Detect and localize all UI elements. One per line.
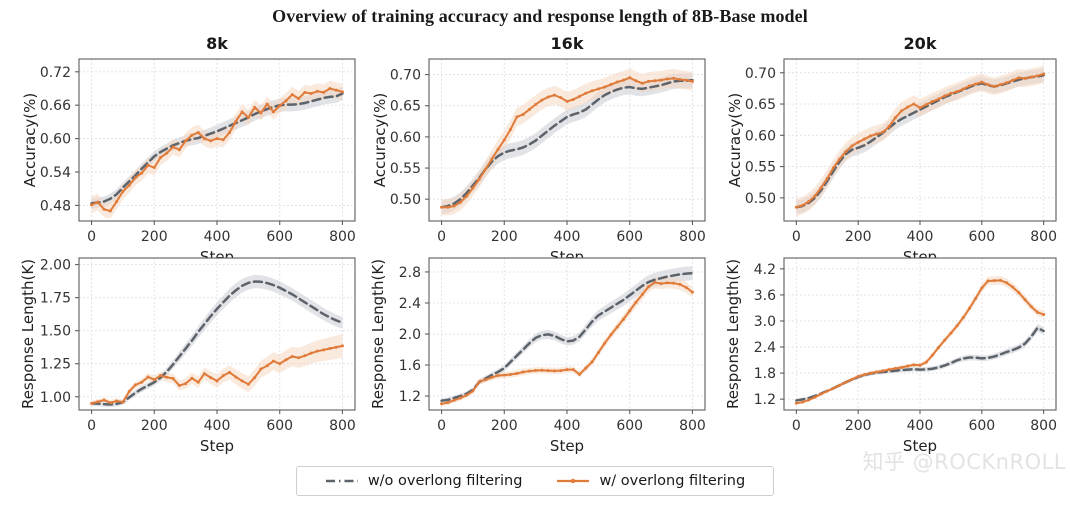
x-axis-label: Step xyxy=(200,437,234,455)
panel-title: 20k xyxy=(904,34,937,53)
y-tick-label: 0.55 xyxy=(390,161,421,177)
series-marker xyxy=(999,279,1002,282)
series-marker xyxy=(912,363,915,366)
legend-solid-line-icon xyxy=(556,475,590,487)
series-marker xyxy=(622,318,625,321)
x-tick-label: 800 xyxy=(1030,229,1057,245)
series-marker xyxy=(178,148,181,151)
series-marker xyxy=(241,379,244,382)
y-tick-label: 2.4 xyxy=(399,296,421,312)
series-marker xyxy=(603,86,606,89)
series-marker xyxy=(832,387,835,390)
series-marker xyxy=(660,282,663,285)
series-marker xyxy=(949,92,952,95)
legend-item-filtered[interactable]: w/ overlong filtering xyxy=(556,473,745,489)
series-marker xyxy=(291,355,294,358)
subplot-len-20k: 1.21.82.43.03.64.20200400600800StepRespo… xyxy=(724,258,1057,455)
series-marker xyxy=(666,281,669,284)
series-marker xyxy=(197,131,200,134)
series-marker xyxy=(266,364,269,367)
x-tick-label: 400 xyxy=(907,418,934,434)
series-marker xyxy=(597,351,600,354)
series-marker xyxy=(584,92,587,95)
subplot-acc-20k: 0.500.550.600.650.700200400600800StepAcc… xyxy=(726,34,1057,266)
series-marker xyxy=(90,203,93,206)
y-tick-label: 4.2 xyxy=(754,262,776,278)
series-marker xyxy=(341,344,344,347)
series-marker xyxy=(813,396,816,399)
subplot-acc-16k: 0.500.550.600.650.700200400600800StepAcc… xyxy=(371,34,706,266)
series-marker xyxy=(547,369,550,372)
series-marker xyxy=(881,369,884,372)
series-marker xyxy=(259,368,262,371)
series-marker xyxy=(1036,311,1039,314)
series-marker xyxy=(993,279,996,282)
series-marker xyxy=(578,95,581,98)
series-marker xyxy=(962,316,965,319)
series-marker xyxy=(863,373,866,376)
series-marker xyxy=(559,369,562,372)
series-marker xyxy=(272,360,275,363)
series-marker xyxy=(172,377,175,380)
series-marker xyxy=(140,381,143,384)
legend-label-filtered: w/ overlong filtering xyxy=(599,473,745,489)
y-axis-label: Accuracy(%) xyxy=(371,93,389,187)
series-marker xyxy=(459,396,462,399)
x-tick-label: 800 xyxy=(679,229,706,245)
series-marker xyxy=(197,381,200,384)
series-marker xyxy=(572,368,575,371)
legend-item-baseline[interactable]: w/o overlong filtering xyxy=(325,473,523,489)
series-marker xyxy=(272,110,275,113)
series-marker xyxy=(844,150,847,153)
series-marker xyxy=(503,139,506,142)
series-marker xyxy=(572,98,575,101)
x-tick-label: 600 xyxy=(266,418,293,434)
y-tick-label: 1.25 xyxy=(40,357,71,373)
series-marker xyxy=(807,399,810,402)
series-marker xyxy=(259,112,262,115)
series-marker xyxy=(566,368,569,371)
series-marker xyxy=(497,148,500,151)
series-marker xyxy=(203,372,206,375)
y-tick-label: 0.70 xyxy=(390,68,421,84)
series-marker xyxy=(159,156,162,159)
series-marker xyxy=(134,383,137,386)
y-tick-label: 0.66 xyxy=(40,98,71,114)
series-marker xyxy=(522,371,525,374)
x-tick-label: 600 xyxy=(968,229,995,245)
series-marker xyxy=(121,401,124,404)
series-marker xyxy=(103,399,106,402)
y-tick-label: 1.50 xyxy=(40,324,71,340)
x-tick-label: 600 xyxy=(266,229,293,245)
y-tick-label: 1.00 xyxy=(40,390,71,406)
series-marker xyxy=(128,184,131,187)
series-marker xyxy=(838,158,841,161)
series-marker xyxy=(685,286,688,289)
series-marker xyxy=(316,90,319,93)
series-marker xyxy=(584,367,587,370)
series-marker xyxy=(832,166,835,169)
series-marker xyxy=(691,291,694,294)
series-marker xyxy=(956,90,959,93)
series-marker xyxy=(190,134,193,137)
panel-title: 16k xyxy=(551,34,584,53)
series-marker xyxy=(566,100,569,103)
series-marker xyxy=(943,339,946,342)
series-marker xyxy=(515,372,518,375)
x-tick-label: 0 xyxy=(87,418,96,434)
subplot-len-16k: 1.21.62.02.42.80200400600800StepResponse… xyxy=(369,258,706,455)
series-marker xyxy=(335,346,338,349)
series-marker xyxy=(672,282,675,285)
series-marker xyxy=(184,139,187,142)
series-marker xyxy=(109,401,112,404)
series-marker xyxy=(109,209,112,212)
series-marker xyxy=(691,80,694,83)
x-tick-label: 0 xyxy=(792,229,801,245)
y-tick-label: 0.60 xyxy=(745,128,776,144)
series-marker xyxy=(278,104,281,107)
legend-dashed-line-icon xyxy=(325,475,359,487)
series-marker xyxy=(559,96,562,99)
series-marker xyxy=(547,96,550,99)
series-marker xyxy=(635,301,638,304)
series-marker xyxy=(465,394,468,397)
series-marker xyxy=(165,376,168,379)
series-marker xyxy=(534,369,537,372)
x-axis-label: Step xyxy=(550,437,584,455)
series-marker xyxy=(1005,81,1008,84)
series-marker xyxy=(103,208,106,211)
y-tick-label: 0.48 xyxy=(40,198,71,214)
series-marker xyxy=(553,94,556,97)
subplot-len-8k: 1.001.251.501.752.000200400600800StepRes… xyxy=(19,258,356,455)
series-marker xyxy=(341,90,344,93)
series-marker xyxy=(222,138,225,141)
series-marker xyxy=(881,131,884,134)
series-marker xyxy=(121,190,124,193)
series-marker xyxy=(968,307,971,310)
series-marker xyxy=(925,361,928,364)
series-marker xyxy=(203,137,206,140)
y-tick-label: 1.2 xyxy=(754,392,776,408)
series-marker xyxy=(591,360,594,363)
series-marker xyxy=(266,103,269,106)
y-tick-label: 0.72 xyxy=(40,65,71,81)
series-marker xyxy=(628,309,631,312)
series-marker xyxy=(440,206,443,209)
series-marker xyxy=(128,390,131,393)
series-marker xyxy=(216,137,219,140)
series-marker xyxy=(999,83,1002,86)
series-marker xyxy=(653,281,656,284)
x-tick-label: 400 xyxy=(204,418,231,434)
y-tick-label: 1.8 xyxy=(754,366,776,382)
x-tick-label: 800 xyxy=(329,418,356,434)
series-marker xyxy=(609,333,612,336)
series-marker xyxy=(1024,298,1027,301)
x-axis-label: Step xyxy=(903,437,937,455)
series-marker xyxy=(980,286,983,289)
series-marker xyxy=(178,384,181,387)
series-marker xyxy=(1017,76,1020,79)
series-marker xyxy=(222,374,225,377)
series-marker xyxy=(672,77,675,80)
series-marker xyxy=(446,206,449,209)
series-marker xyxy=(534,103,537,106)
series-marker xyxy=(234,120,237,123)
series-marker xyxy=(900,366,903,369)
series-marker xyxy=(888,125,891,128)
series-marker xyxy=(857,375,860,378)
series-marker xyxy=(285,358,288,361)
series-marker xyxy=(1024,77,1027,80)
series-marker xyxy=(153,378,156,381)
series-marker xyxy=(616,81,619,84)
y-tick-label: 0.60 xyxy=(40,132,71,148)
x-tick-label: 800 xyxy=(329,229,356,245)
legend-label-baseline: w/o overlong filtering xyxy=(368,473,523,489)
series-marker xyxy=(209,376,212,379)
series-marker xyxy=(147,375,150,378)
series-marker xyxy=(522,113,525,116)
series-marker xyxy=(641,82,644,85)
series-marker xyxy=(90,402,93,405)
series-marker xyxy=(635,79,638,82)
y-tick-label: 0.50 xyxy=(745,191,776,207)
y-tick-label: 2.8 xyxy=(399,265,421,281)
series-marker xyxy=(660,79,663,82)
y-tick-label: 0.55 xyxy=(745,160,776,176)
x-tick-label: 200 xyxy=(141,418,168,434)
series-marker xyxy=(297,97,300,100)
series-marker xyxy=(838,384,841,387)
series-marker xyxy=(209,139,212,142)
series-marker xyxy=(647,80,650,83)
series-marker xyxy=(165,152,168,155)
y-tick-label: 2.4 xyxy=(754,340,776,356)
series-marker xyxy=(1030,305,1033,308)
series-marker xyxy=(820,393,823,396)
series-marker xyxy=(603,342,606,345)
series-marker xyxy=(1042,313,1045,316)
series-marker xyxy=(931,100,934,103)
y-tick-label: 0.60 xyxy=(390,130,421,146)
series-marker xyxy=(484,168,487,171)
series-marker xyxy=(956,324,959,327)
series-marker xyxy=(801,204,804,207)
series-marker xyxy=(1030,76,1033,79)
series-marker xyxy=(540,369,543,372)
series-marker xyxy=(190,377,193,380)
y-axis-label: Accuracy(%) xyxy=(726,93,744,187)
y-tick-label: 0.50 xyxy=(390,192,421,208)
x-tick-label: 200 xyxy=(491,418,518,434)
series-marker xyxy=(490,158,493,161)
series-marker xyxy=(987,280,990,283)
series-marker xyxy=(310,92,313,95)
series-marker xyxy=(497,374,500,377)
series-marker xyxy=(241,110,244,113)
series-marker xyxy=(597,87,600,90)
series-marker xyxy=(172,145,175,148)
y-tick-label: 0.65 xyxy=(745,97,776,113)
series-marker xyxy=(316,350,319,353)
x-tick-label: 400 xyxy=(907,229,934,245)
series-marker xyxy=(647,285,650,288)
series-marker xyxy=(247,383,250,386)
series-marker xyxy=(820,186,823,189)
series-marker xyxy=(609,83,612,86)
series-marker xyxy=(228,131,231,134)
series-marker xyxy=(322,348,325,351)
series-marker xyxy=(216,379,219,382)
series-marker xyxy=(851,378,854,381)
series-marker xyxy=(857,141,860,144)
x-tick-label: 0 xyxy=(437,229,446,245)
series-marker xyxy=(616,326,619,329)
series-marker xyxy=(826,177,829,180)
series-marker xyxy=(509,128,512,131)
series-marker xyxy=(478,380,481,383)
series-marker xyxy=(159,374,162,377)
x-tick-label: 600 xyxy=(616,229,643,245)
series-marker xyxy=(335,89,338,92)
y-tick-label: 0.65 xyxy=(390,99,421,115)
series-marker xyxy=(490,376,493,379)
series-marker xyxy=(894,367,897,370)
series-marker xyxy=(471,390,474,393)
series-marker xyxy=(591,89,594,92)
y-tick-label: 3.0 xyxy=(754,314,776,330)
y-tick-label: 0.70 xyxy=(745,66,776,82)
figure-title: Overview of training accuracy and respon… xyxy=(0,6,1080,27)
series-marker xyxy=(678,283,681,286)
series-marker xyxy=(937,98,940,101)
series-marker xyxy=(931,354,934,357)
series-marker xyxy=(795,206,798,209)
x-tick-label: 0 xyxy=(437,418,446,434)
series-marker xyxy=(987,83,990,86)
series-marker xyxy=(453,205,456,208)
series-marker xyxy=(153,166,156,169)
x-tick-label: 400 xyxy=(554,229,581,245)
series-marker xyxy=(869,372,872,375)
series-marker xyxy=(115,200,118,203)
series-marker xyxy=(685,79,688,82)
series-marker xyxy=(228,371,231,374)
series-marker xyxy=(303,91,306,94)
y-axis-label: Response Length(K) xyxy=(724,259,742,409)
series-marker xyxy=(453,399,456,402)
series-marker xyxy=(446,401,449,404)
series-marker xyxy=(980,81,983,84)
series-marker xyxy=(943,94,946,97)
series-marker xyxy=(484,378,487,381)
x-tick-label: 0 xyxy=(792,418,801,434)
y-tick-label: 0.54 xyxy=(40,165,71,181)
series-marker xyxy=(906,106,909,109)
y-axis-label: Response Length(K) xyxy=(369,259,387,409)
series-marker xyxy=(278,362,281,365)
x-tick-label: 0 xyxy=(87,229,96,245)
series-marker xyxy=(310,352,313,355)
figure-root: Overview of training accuracy and respon… xyxy=(0,0,1080,508)
series-marker xyxy=(900,109,903,112)
series-marker xyxy=(478,178,481,181)
x-tick-label: 200 xyxy=(141,229,168,245)
series-marker xyxy=(919,106,922,109)
series-marker xyxy=(440,402,443,405)
x-tick-label: 200 xyxy=(845,229,872,245)
series-marker xyxy=(968,84,971,87)
series-marker xyxy=(813,194,816,197)
series-marker xyxy=(147,164,150,167)
x-tick-label: 400 xyxy=(554,418,581,434)
series-marker xyxy=(628,76,631,79)
y-axis-label: Response Length(K) xyxy=(19,259,37,409)
series-marker xyxy=(962,88,965,91)
y-tick-label: 2.00 xyxy=(40,258,71,274)
subplot-acc-8k: 0.480.540.600.660.720200400600800StepAcc… xyxy=(21,34,356,266)
series-marker xyxy=(134,176,137,179)
x-tick-label: 400 xyxy=(204,229,231,245)
series-marker xyxy=(253,376,256,379)
series-marker xyxy=(1017,291,1020,294)
series-marker xyxy=(115,400,118,403)
series-marker xyxy=(553,369,556,372)
panel-title: 8k xyxy=(206,34,228,53)
series-marker xyxy=(291,93,294,96)
series-marker xyxy=(1005,281,1008,284)
y-tick-label: 1.2 xyxy=(399,389,421,405)
series-marker xyxy=(801,401,804,404)
series-marker xyxy=(795,402,798,405)
series-marker xyxy=(140,172,143,175)
series-marker xyxy=(919,364,922,367)
series-marker xyxy=(528,370,531,373)
series-marker xyxy=(937,346,940,349)
subplot-grid: 0.480.540.600.660.720200400600800StepAcc… xyxy=(0,28,1080,488)
series-marker xyxy=(1011,286,1014,289)
series-marker xyxy=(869,134,872,137)
y-tick-label: 2.0 xyxy=(399,327,421,343)
series-marker xyxy=(826,390,829,393)
series-marker xyxy=(875,371,878,374)
series-marker xyxy=(851,144,854,147)
series-marker xyxy=(540,99,543,102)
series-marker xyxy=(863,138,866,141)
series-marker xyxy=(328,87,331,90)
series-marker xyxy=(459,201,462,204)
series-marker xyxy=(993,85,996,88)
series-marker xyxy=(285,99,288,102)
series-marker xyxy=(297,356,300,359)
series-marker xyxy=(503,374,506,377)
series-marker xyxy=(949,332,952,335)
series-marker xyxy=(974,297,977,300)
series-marker xyxy=(678,78,681,81)
series-marker xyxy=(912,103,915,106)
y-tick-label: 1.6 xyxy=(399,358,421,374)
series-marker xyxy=(906,365,909,368)
series-marker xyxy=(974,83,977,86)
series-marker xyxy=(328,347,331,350)
y-axis-label: Accuracy(%) xyxy=(21,93,39,187)
series-marker xyxy=(622,79,625,82)
